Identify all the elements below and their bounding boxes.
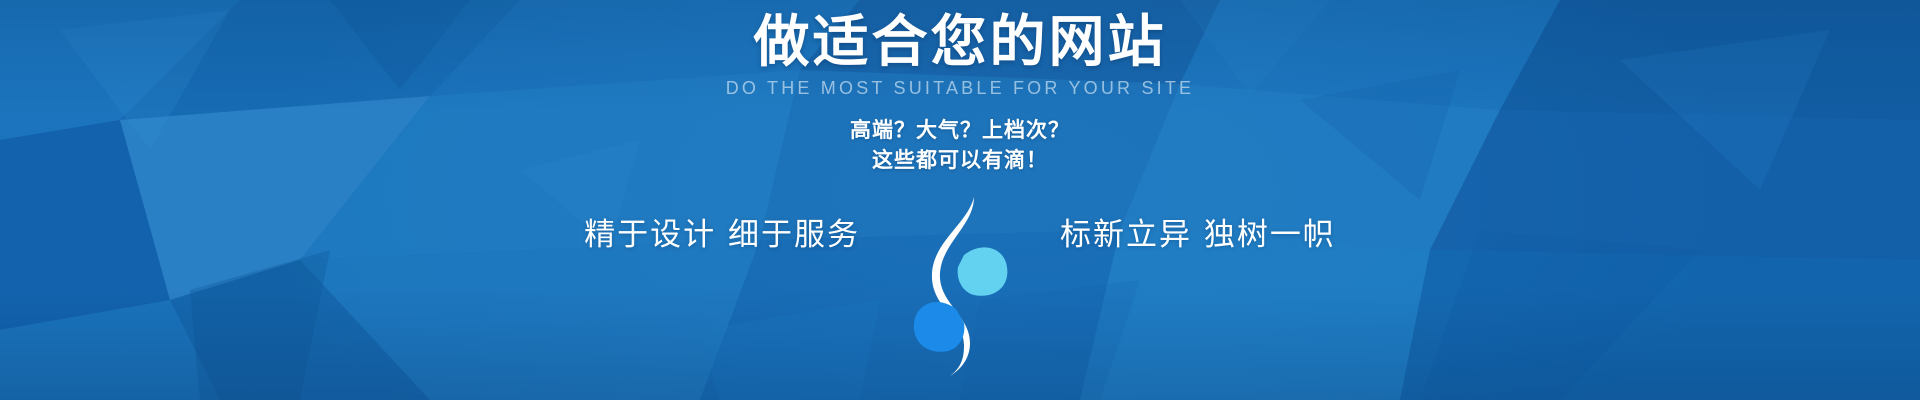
- slogan-right: 标新立异 独树一帜: [1060, 199, 1336, 254]
- banner-subhead-english: DO THE MOST SUITABLE FOR YOUR SITE: [726, 78, 1195, 99]
- tagline-1: 高端？大气？上档次？: [850, 116, 1070, 146]
- hero-banner: 做适合您的网站 DO THE MOST SUITABLE FOR YOUR SI…: [0, 0, 1920, 400]
- banner-taglines: 高端？大气？上档次？ 这些都可以有滴！: [850, 116, 1070, 176]
- banner-headline: 做适合您的网站: [754, 14, 1167, 73]
- slogan-left: 精于设计 细于服务: [584, 199, 860, 254]
- slogan-row: 精于设计 细于服务 标新立异 独树一帜: [0, 199, 1920, 376]
- leaf-sprout-logo-icon: [912, 191, 1008, 376]
- banner-content: 做适合您的网站 DO THE MOST SUITABLE FOR YOUR SI…: [0, 0, 1920, 400]
- tagline-2: 这些都可以有滴！: [850, 146, 1070, 176]
